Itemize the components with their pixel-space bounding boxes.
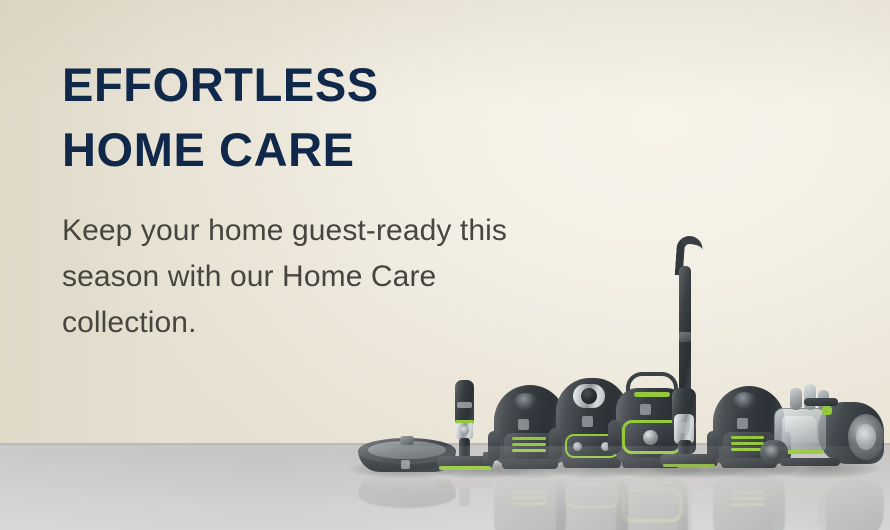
page-title: EFFORTLESS HOME CARE [62,52,662,182]
canister-2-hose-port [581,388,597,404]
canister-2-power-button [573,442,582,451]
cyclone-top-bar [804,398,838,406]
canister-3-logo [640,404,651,415]
promo-copy-block: EFFORTLESS HOME CARE Keep your home gues… [62,52,662,346]
canister-2-left-wheel [549,428,562,460]
robot-vacuum-logo [401,460,410,469]
handheld-head-green-strip [439,466,491,470]
canister-1-hose-port [514,393,538,411]
cyclone-base [780,458,840,466]
headline-line-1: EFFORTLESS [62,52,662,117]
cyclone-bin-inner [782,416,816,446]
home-care-promo-banner: EFFORTLESS HOME CARE Keep your home gues… [0,0,890,530]
cyclone-wheel-hub [856,424,876,450]
canister-1-green-line-2 [512,443,546,446]
headline-line-2: HOME CARE [62,117,662,182]
canister-2-logo [582,416,593,427]
canister-3-dial [643,430,658,445]
canister-3-left-wheel [608,420,621,454]
canister-1-green-line-3 [512,449,546,452]
promo-subtitle: Keep your home guest-ready this season w… [62,182,642,346]
canister-1-left-wheel-arch [488,431,500,461]
robot-vacuum-sensor-tower [400,436,414,445]
canister-4-logo [737,418,748,429]
canister-4-left-wheel [707,431,719,461]
handheld-brand-mark [457,402,472,408]
cyclone-green-latch [822,406,832,415]
cordless-logo [679,422,690,433]
cyclone-inlet-opening [764,444,781,460]
cyclone-cone-2 [804,384,816,410]
cordless-shaft [679,266,691,396]
canister-4-hose-port [733,392,757,410]
handheld-cyclone-window [460,426,469,435]
canister-1-logo [518,419,529,430]
subtitle-line-2: season with our Home Care [62,254,642,300]
cordless-shaft-collar [679,332,691,342]
cyclone-cone-1 [790,388,802,410]
subtitle-line-3: collection. [62,300,642,346]
subtitle-line-1: Keep your home guest-ready this [62,208,642,254]
handheld-green-accent [455,420,474,423]
product-bagless-cyclone-vacuum[interactable] [760,384,884,472]
canister-1-green-line-1 [512,437,546,440]
